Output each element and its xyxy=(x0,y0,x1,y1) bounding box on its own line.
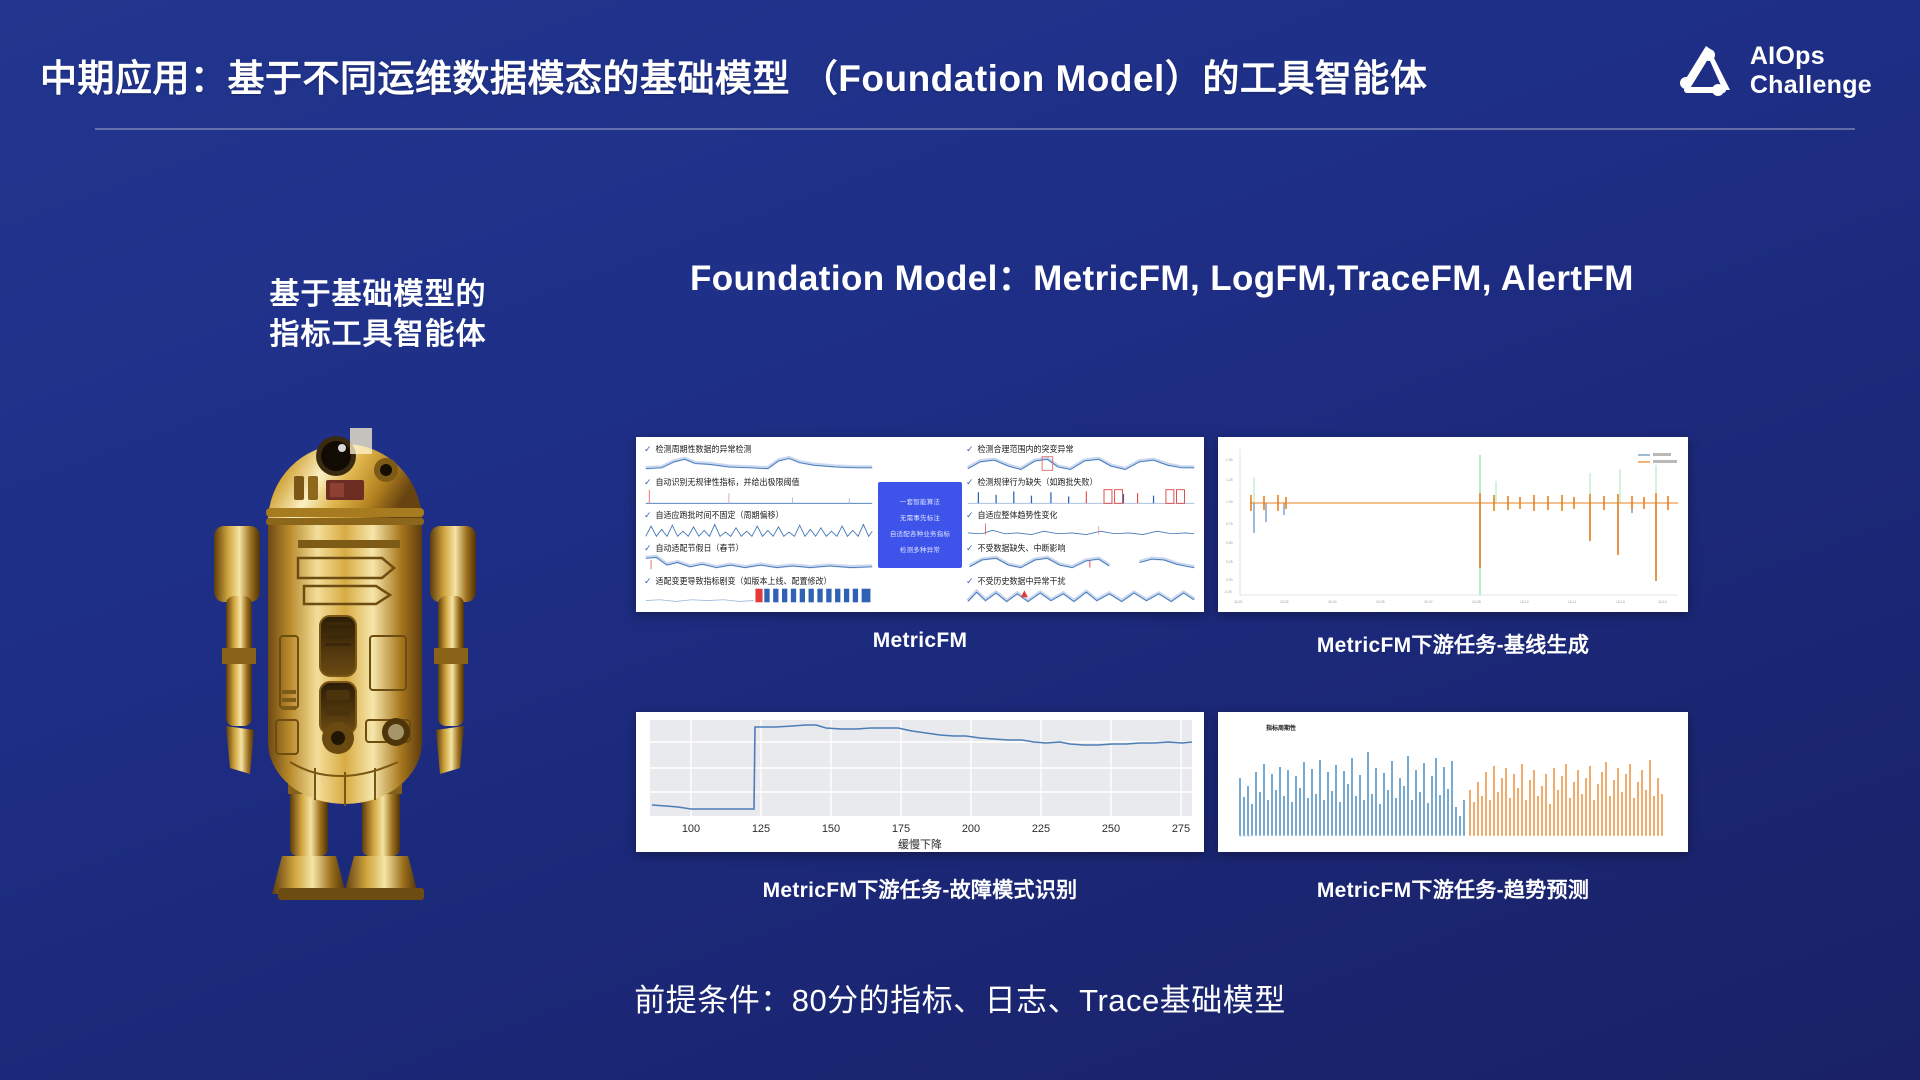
x-tick: 200 xyxy=(962,823,980,835)
trend-forecast-chart: 指标周期性 xyxy=(1218,712,1688,852)
check-icon: ✓ xyxy=(966,577,974,586)
metricfm-item-label: 检测合理范围内的突变异常 xyxy=(978,443,1074,455)
sparkline-missing-behavior xyxy=(966,488,1196,505)
aiops-triangle-nodes-icon xyxy=(1672,38,1738,104)
svg-text:0.75: 0.75 xyxy=(1226,522,1233,526)
sparkline-trend-adapt xyxy=(966,521,1196,538)
metricfm-item: ✓不受数据缺失、中断影响 xyxy=(966,542,1196,573)
x-tick: 250 xyxy=(1102,823,1120,835)
svg-text:10-07: 10-07 xyxy=(1424,600,1433,604)
left-heading-line-1: 基于基础模型的 xyxy=(228,275,528,315)
metricfm-item: ✓检测周期性数据的异常检测 xyxy=(644,443,874,474)
check-icon: ✓ xyxy=(644,577,652,586)
svg-text:10-04: 10-04 xyxy=(1328,600,1337,604)
left-heading-line-2: 指标工具智能体 xyxy=(228,315,528,355)
check-icon: ✓ xyxy=(966,445,974,454)
card-trend-forecast[interactable]: 指标周期性 xyxy=(1218,712,1688,852)
x-tick: 175 xyxy=(892,823,910,835)
svg-text:1.25: 1.25 xyxy=(1226,478,1233,482)
svg-text:10-02: 10-02 xyxy=(1280,600,1289,604)
metricfm-right-column: ✓检测合理范围内的突变异常 ✓检测规律行为缺失（如跑批失败） xyxy=(966,443,1196,606)
svg-text:10-11: 10-11 xyxy=(1568,600,1577,604)
metricfm-item-label: 检测周期性数据的异常检测 xyxy=(656,443,752,455)
svg-text:10-08: 10-08 xyxy=(1472,600,1481,604)
metricfm-item: ✓自适应跑批时间不固定（周期偏移） xyxy=(644,509,874,540)
footer-note: 前提条件：80分的指标、日志、Trace基础模型 xyxy=(0,975,1920,1020)
sparkline-shifted-batch xyxy=(644,521,874,538)
highlight-line: 检测多种异常 xyxy=(900,544,940,554)
metricfm-highlight-box: 一套智能算法 无需事先标注 自适配各种业务指标 检测多种异常 xyxy=(878,482,962,568)
svg-text:0.25: 0.25 xyxy=(1226,560,1233,564)
logo-line-challenge: Challenge xyxy=(1750,71,1872,100)
svg-text:10-13: 10-13 xyxy=(1616,600,1625,604)
metricfm-item: ✓检测规律行为缺失（如跑批失败） xyxy=(966,476,1196,507)
x-tick: 225 xyxy=(1032,823,1050,835)
x-tick: 100 xyxy=(682,823,700,835)
page-title: 中期应用：基于不同运维数据模态的基础模型 （Foundation Model）的… xyxy=(40,48,1427,102)
card-baseline-generation[interactable]: 1.501.251.00 0.750.500.25 0.00-0.25 10-0… xyxy=(1218,437,1688,612)
metricfm-item-label: 不受历史数据中异常干扰 xyxy=(978,575,1066,587)
x-axis-label: 缓慢下降 xyxy=(898,837,942,851)
svg-text:-0.25: -0.25 xyxy=(1224,590,1232,594)
metricfm-item-label: 自动识别无规律性指标，并给出极限阈值 xyxy=(656,476,800,488)
metricfm-item: ✓自动识别无规律性指标，并给出极限阈值 xyxy=(644,476,874,507)
check-icon: ✓ xyxy=(966,478,974,487)
metricfm-left-column: ✓检测周期性数据的异常检测 ✓自动识别无规律性指标，并给出极限阈值 xyxy=(644,443,874,606)
svg-text:1.00: 1.00 xyxy=(1226,500,1233,504)
highlight-line: 无需事先标注 xyxy=(900,512,940,522)
sparkline-change-shift xyxy=(644,587,874,604)
check-icon: ✓ xyxy=(644,478,652,487)
sparkline-inrange-spike xyxy=(966,455,1196,472)
check-icon: ✓ xyxy=(644,544,652,553)
metricfm-item: ✓不受历史数据中异常干扰 xyxy=(966,575,1196,606)
svg-text:10-05: 10-05 xyxy=(1376,600,1385,604)
svg-text:10-14: 10-14 xyxy=(1658,600,1667,604)
metricfm-item: ✓自动适配节假日（春节） xyxy=(644,542,874,573)
x-tick: 275 xyxy=(1172,823,1190,835)
logo-text: AIOps Challenge xyxy=(1750,42,1872,100)
svg-text:1.50: 1.50 xyxy=(1226,458,1233,462)
logo-line-aiops: AIOps xyxy=(1750,42,1872,71)
slide-header: 中期应用：基于不同运维数据模态的基础模型 （Foundation Model）的… xyxy=(0,0,1920,140)
x-tick: 125 xyxy=(752,823,770,835)
left-heading: 基于基础模型的 指标工具智能体 xyxy=(228,275,528,355)
sparkline-periodic xyxy=(644,455,874,472)
baseline-chart: 1.501.251.00 0.750.500.25 0.00-0.25 10-0… xyxy=(1218,437,1688,612)
card-caption-fault: MetricFM下游任务-故障模式识别 xyxy=(636,874,1204,904)
metricfm-item-label: 不受数据缺失、中断影响 xyxy=(978,542,1066,554)
card-fault-pattern[interactable]: 100 125 150 175 200 225 250 275 缓慢下降 xyxy=(636,712,1204,852)
check-icon: ✓ xyxy=(644,511,652,520)
golden-robot-image xyxy=(190,390,500,920)
metricfm-item-label: 自动适配节假日（春节） xyxy=(656,542,744,554)
fault-pattern-chart: 100 125 150 175 200 225 250 275 缓慢下降 xyxy=(636,712,1204,852)
foundation-model-title: Foundation Model：MetricFM, LogFM,TraceFM… xyxy=(690,250,1634,301)
metricfm-item: ✓自适应整体趋势性变化 xyxy=(966,509,1196,540)
metricfm-item: ✓检测合理范围内的突变异常 xyxy=(966,443,1196,474)
metricfm-panel: ✓检测周期性数据的异常检测 ✓自动识别无规律性指标，并给出极限阈值 xyxy=(636,437,1204,612)
check-icon: ✓ xyxy=(966,544,974,553)
card-caption-metricfm: MetricFM xyxy=(636,629,1204,653)
check-icon: ✓ xyxy=(966,511,974,520)
svg-text:0.00: 0.00 xyxy=(1226,578,1233,582)
chart-annotation: 指标周期性 xyxy=(1266,724,1296,732)
card-metricfm[interactable]: ✓检测周期性数据的异常检测 ✓自动识别无规律性指标，并给出极限阈值 xyxy=(636,437,1204,612)
sparkline-outlier-robust xyxy=(966,587,1196,604)
metricfm-item-label: 适配变更导致指标剧变（如版本上线、配置修改） xyxy=(656,575,832,587)
svg-text:10-01: 10-01 xyxy=(1234,600,1243,604)
metricfm-item-label: 自适应整体趋势性变化 xyxy=(978,509,1058,521)
sparkline-gap-tolerant xyxy=(966,554,1196,571)
sparkline-holiday xyxy=(644,554,874,571)
header-divider xyxy=(95,128,1855,130)
card-caption-baseline: MetricFM下游任务-基线生成 xyxy=(1218,629,1688,659)
sparkline-irregular xyxy=(644,488,874,505)
metricfm-item-label: 自适应跑批时间不固定（周期偏移） xyxy=(656,509,784,521)
card-caption-trend: MetricFM下游任务-趋势预测 xyxy=(1218,874,1688,904)
check-icon: ✓ xyxy=(644,445,652,454)
metricfm-item-label: 检测规律行为缺失（如跑批失败） xyxy=(978,476,1098,488)
svg-text:0.50: 0.50 xyxy=(1226,541,1233,545)
metricfm-item: ✓适配变更导致指标剧变（如版本上线、配置修改） xyxy=(644,575,874,606)
x-tick: 150 xyxy=(822,823,840,835)
aiops-challenge-logo: AIOps Challenge xyxy=(1672,38,1872,104)
svg-text:10-10: 10-10 xyxy=(1520,600,1529,604)
highlight-line: 一套智能算法 xyxy=(900,496,940,506)
highlight-line: 自适配各种业务指标 xyxy=(890,528,950,538)
